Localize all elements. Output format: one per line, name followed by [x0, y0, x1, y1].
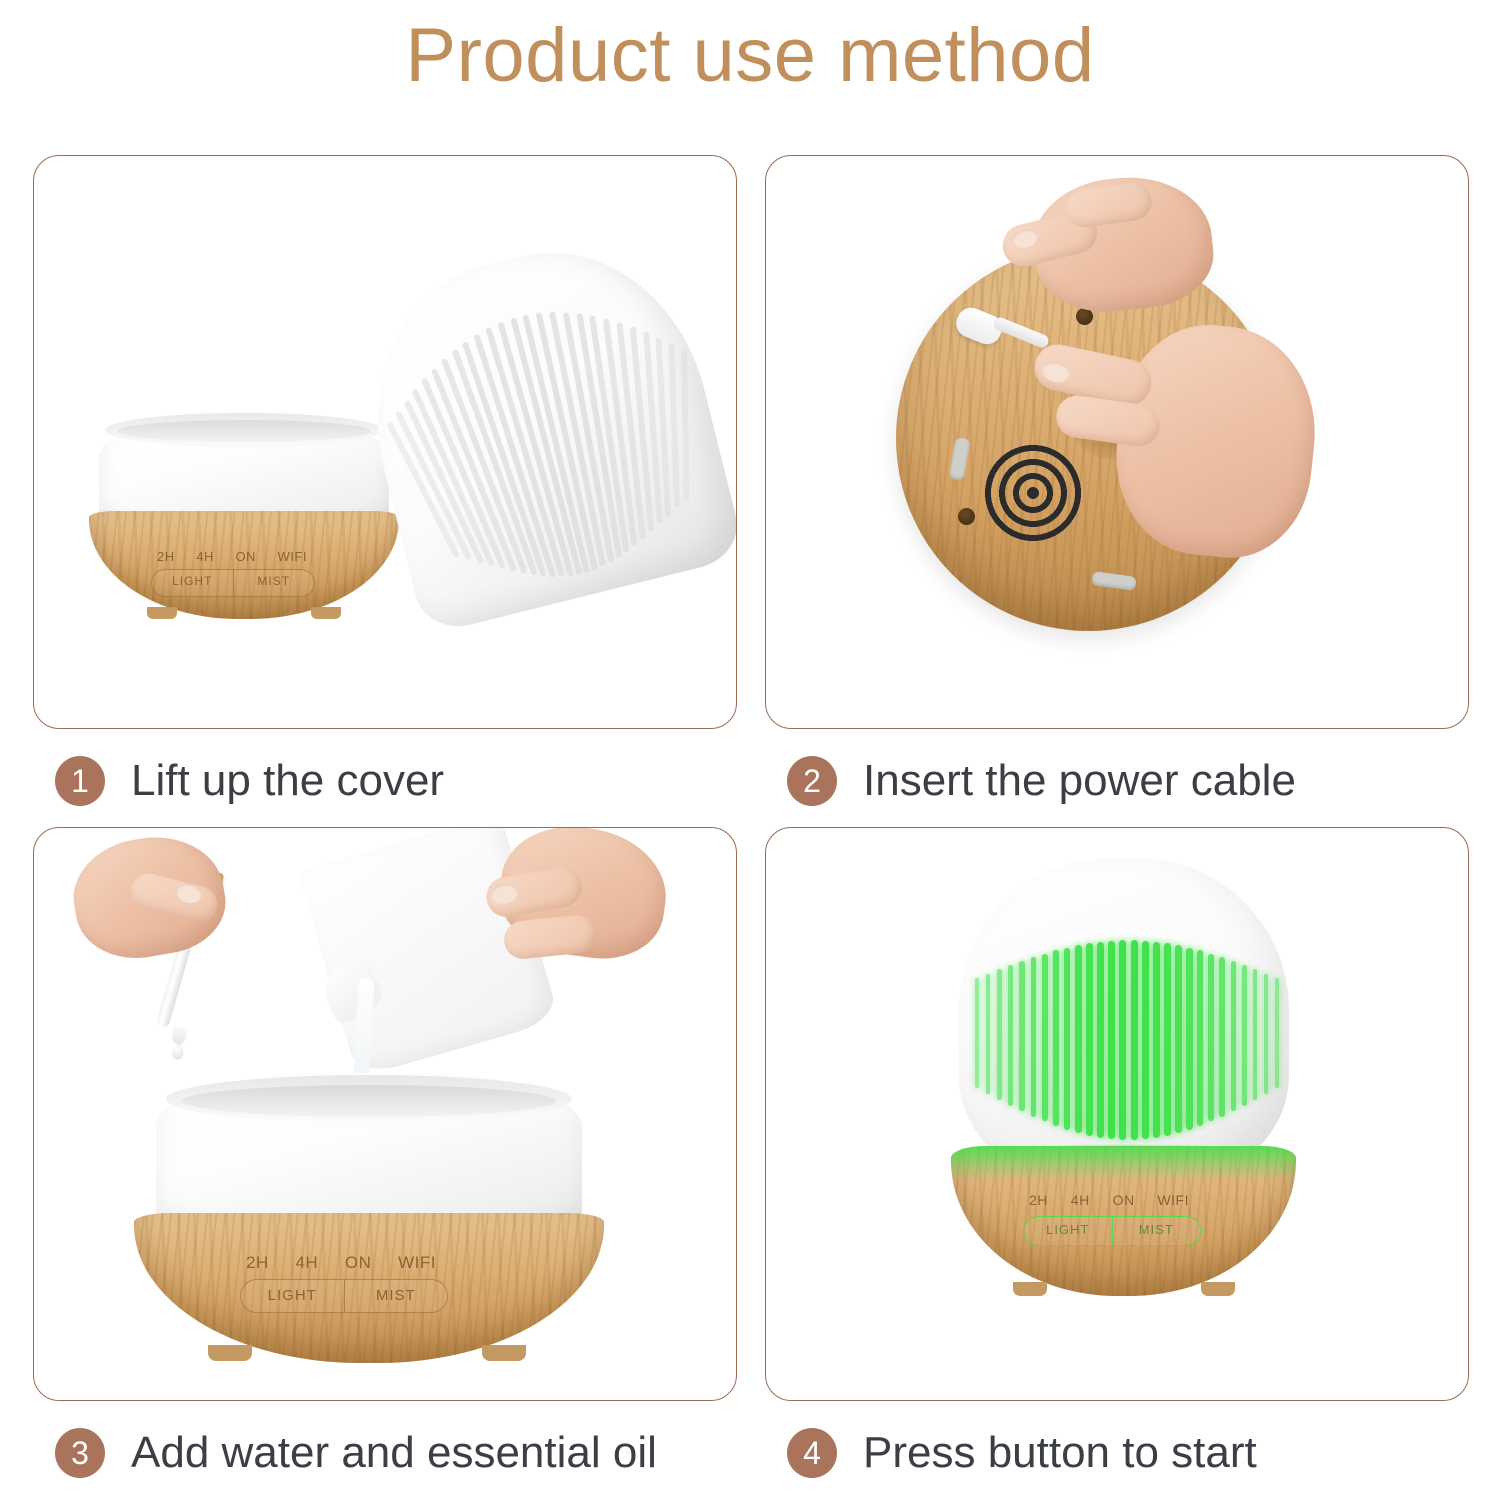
indicator-4h: 4H [295, 1253, 318, 1273]
indicator-on: ON [235, 549, 256, 564]
open-diffuser-tank: 2H 4H ON WIFI LIGHT MIST [134, 1073, 604, 1373]
indicator-on: ON [1113, 1192, 1135, 1208]
tank-rim [105, 413, 383, 447]
tank-rim [166, 1075, 572, 1123]
cover-shell [342, 221, 737, 636]
wood-base: 2H 4H ON WIFI LIGHT MIST [951, 1146, 1296, 1296]
step-2-badge: 2 [787, 756, 837, 806]
mist-button[interactable]: MIST [1112, 1217, 1201, 1245]
light-button[interactable]: LIGHT [241, 1280, 344, 1312]
mist-button[interactable]: MIST [344, 1280, 448, 1312]
step-1-badge: 1 [55, 756, 105, 806]
dropper-tip [171, 1025, 188, 1045]
step-4-badge: 4 [787, 1428, 837, 1478]
base-feet [951, 1282, 1296, 1300]
control-buttons[interactable]: LIGHT MIST [151, 569, 315, 597]
indicator-wifi: WIFI [1157, 1192, 1189, 1208]
light-button[interactable]: LIGHT [152, 570, 233, 596]
illuminated-vent-slots [959, 922, 1289, 1122]
indicator-2h: 2H [157, 549, 175, 564]
page-title: Product use method [0, 12, 1500, 99]
control-buttons[interactable]: LIGHT MIST [1023, 1216, 1201, 1246]
indicator-4h: 4H [196, 549, 214, 564]
step-4-caption: 4 Press button to start [787, 1423, 1469, 1483]
step-2-caption-text: Insert the power cable [863, 756, 1296, 806]
wood-base: 2H 4H ON WIFI LIGHT MIST [134, 1213, 604, 1363]
indicator-2h: 2H [246, 1253, 269, 1273]
base-feet [89, 607, 399, 623]
rubber-foot [948, 437, 970, 481]
base-glow-reflection [951, 1146, 1296, 1180]
oil-drop [171, 1044, 184, 1061]
step-3-caption: 3 Add water and essential oil [55, 1423, 737, 1483]
step-1-caption-text: Lift up the cover [131, 756, 444, 806]
fan-vent-icon [984, 444, 1082, 542]
step-3-badge: 3 [55, 1428, 105, 1478]
mist-button[interactable]: MIST [233, 570, 315, 596]
step-3-image-card: 2H 4H ON WIFI LIGHT MIST [33, 827, 737, 1401]
step-2-image-card [765, 155, 1469, 729]
diffuser-base-unit: 2H 4H ON WIFI LIGHT MIST [89, 411, 399, 626]
indicator-wifi: WIFI [398, 1253, 436, 1273]
indicator-wifi: WIFI [278, 549, 307, 564]
cover-vent-slots [342, 221, 737, 636]
assembled-diffuser: 2H 4H ON WIFI LIGHT MIST [951, 858, 1296, 1308]
step-4: 2H 4H ON WIFI LIGHT MIST 4 Pr [765, 827, 1469, 1483]
indicator-4h: 4H [1071, 1192, 1090, 1208]
base-feet [134, 1345, 604, 1365]
rubber-foot [1091, 571, 1137, 591]
step-4-caption-text: Press button to start [863, 1428, 1257, 1478]
step-1-caption: 1 Lift up the cover [55, 751, 737, 811]
indicator-on: ON [345, 1253, 372, 1273]
control-indicators: 2H 4H ON WIFI [246, 1253, 436, 1273]
light-button[interactable]: LIGHT [1024, 1217, 1112, 1245]
control-indicators: 2H 4H ON WIFI [157, 549, 307, 564]
wood-base: 2H 4H ON WIFI LIGHT MIST [89, 511, 399, 619]
infographic-page: Product use method 2H 4H ON WIFI [0, 0, 1500, 1500]
control-buttons[interactable]: LIGHT MIST [240, 1279, 448, 1313]
step-2: 2 Insert the power cable [765, 155, 1469, 811]
ribbed-cover [342, 221, 737, 636]
indicator-2h: 2H [1029, 1192, 1048, 1208]
step-1-image-card: 2H 4H ON WIFI LIGHT MIST [33, 155, 737, 729]
step-4-image-card: 2H 4H ON WIFI LIGHT MIST [765, 827, 1469, 1401]
control-indicators: 2H 4H ON WIFI [1029, 1192, 1189, 1208]
glowing-cover-shell [959, 858, 1289, 1188]
screw-hole [958, 508, 975, 525]
step-3: 2H 4H ON WIFI LIGHT MIST 3 Ad [33, 827, 737, 1483]
step-2-caption: 2 Insert the power cable [787, 751, 1469, 811]
step-3-caption-text: Add water and essential oil [131, 1428, 657, 1478]
step-1: 2H 4H ON WIFI LIGHT MIST [33, 155, 737, 811]
